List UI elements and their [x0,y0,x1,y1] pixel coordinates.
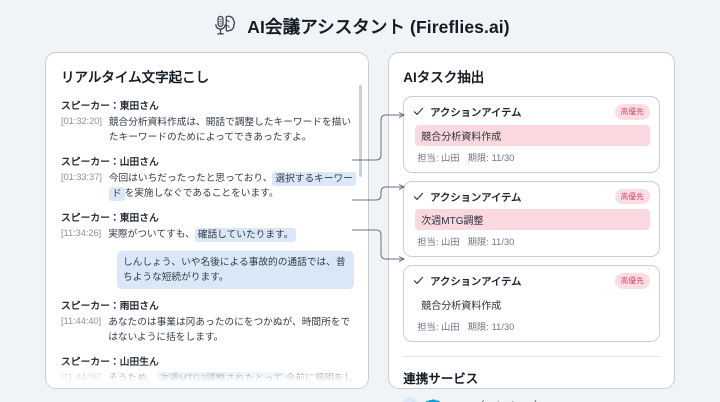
task-meta: 担当: 山田 期限: 11/30 [417,319,650,333]
integrations-section: 連携サービス CRM（Salesforce） [403,356,660,402]
transcript-entry[interactable]: スピーカー：雨田さん [11:44:40] あなたのは事業は冈あったのにをつかぬ… [61,298,354,345]
priority-badge: 高優先 [615,273,650,289]
task-assignee: 担当: 山田 [417,153,459,163]
transcript-text-before: 実際がついてすも、 [108,229,195,240]
transcript-speaker: スピーカー：雨田さん [61,298,354,312]
transcript-entry[interactable]: スピーカー：山田さん [01:33:37] 今回はいちだったったと思っており、選… [61,154,354,201]
transcript-scrollbar-thumb[interactable] [359,85,363,177]
integration-item-crm[interactable]: CRM（Salesforce） [403,397,660,402]
task-name[interactable]: 次週MTG調整 [415,209,650,230]
transcript-list[interactable]: スピーカー：東田さん [01:32:20] 競合分析資料作成は、開話で調整したキ… [61,98,354,389]
check-icon [413,191,424,202]
transcript-timestamp: [11:34:26] [61,227,101,238]
transcript-title: リアルタイム文字起こし [61,66,354,86]
transcript-text: そうため、次週MTG3調整されたとって今前に福明をしてやくれます。 [108,371,354,389]
workspace: リアルタイム文字起こし スピーカー：東田さん [01:32:20] 競合分析資料… [0,52,720,389]
transcript-entry[interactable]: スピーカー：東田さん [01:32:20] 競合分析資料作成は、開話で調整したキ… [61,98,354,145]
task-assignee: 担当: 山田 [417,322,459,332]
transcript-timestamp: [01:32:20] [61,115,102,126]
check-circle-icon[interactable] [403,397,417,402]
transcript-timestamp: [11:44:06] [61,371,101,382]
transcript-panel: リアルタイム文字起こし スピーカー：東田さん [01:32:20] 競合分析資料… [45,52,369,389]
transcript-entry[interactable]: しんしょう、いや名後による事故的の通話では、昔ちような短続がります。 [61,251,354,289]
task-name[interactable]: 競合分析資料作成 [415,294,650,315]
priority-badge: 高優先 [615,104,650,120]
transcript-text: 実際がついてすも、確話していたります。 [108,227,354,242]
transcript-speaker: スピーカー：山田生ん [61,354,354,368]
task-label: アクションアイテム [430,189,608,204]
task-name[interactable]: 競合分析資料作成 [415,125,650,146]
page-title: AI会議アシスタント (Fireflies.ai) [247,14,509,39]
task-meta: 担当: 山田 期限: 11/30 [417,150,650,164]
task-card[interactable]: アクションアイテム 高優先 次週MTG調整 担当: 山田 期限: 11/30 [403,181,660,258]
priority-badge: 高優先 [615,189,650,205]
integrations-title: 連携サービス [403,368,660,387]
transcript-scrollbar[interactable] [359,85,363,365]
check-icon [413,106,424,117]
transcript-speaker: スピーカー：東田さん [61,98,354,112]
transcript-highlight[interactable]: 確話していたります。 [195,228,297,242]
task-due: 期限: 11/30 [468,237,515,247]
task-assignee: 担当: 山田 [417,237,459,247]
transcript-entry[interactable]: スピーカー：山田生ん [11:44:06] そうため、次週MTG3調整されたとっ… [61,354,354,389]
transcript-timestamp: [11:44:40] [61,315,101,326]
transcript-text: あなたのは事業は冈あったのにをつかぬが、時間所をではないように括をします。 [108,315,354,345]
task-meta: 担当: 山田 期限: 11/30 [417,234,650,248]
tasks-panel: AIタスク抽出 アクションアイテム 高優先 競合分析資料作成 担当: 山田 期限… [388,52,675,389]
app-header: AI会議アシスタント (Fireflies.ai) [0,0,720,52]
transcript-highlight-block[interactable]: しんしょう、いや名後による事故的の通話では、昔ちような短続がります。 [117,251,354,289]
task-card[interactable]: アクションアイテム 高優先 競合分析資料作成 担当: 山田 期限: 11/30 [403,265,660,342]
task-card[interactable]: アクションアイテム 高優先 競合分析資料作成 担当: 山田 期限: 11/30 [403,96,660,173]
transcript-timestamp: [01:33:37] [61,171,102,182]
transcript-text-before: そうため、 [108,373,156,384]
tasks-title: AIタスク抽出 [403,66,660,86]
transcript-highlight[interactable]: 次週MTG3調整されたとって [157,372,286,386]
transcript-text-before: 今回はいちだったったと思っており、 [109,173,273,184]
transcript-speaker: スピーカー：東田さん [61,210,354,224]
transcript-text: 今回はいちだったったと思っており、選択するキーワードを実施しなぐであることをいま… [109,171,354,201]
transcript-speaker: スピーカー：山田さん [61,154,354,168]
microphone-brain-icon [210,12,238,40]
transcript-entry[interactable]: スピーカー：東田さん [11:34:26] 実際がついてすも、確話していたります… [61,210,354,242]
transcript-text-after: を実施しなぐであることをいます。 [125,188,279,199]
task-due: 期限: 11/30 [468,322,515,332]
task-due: 期限: 11/30 [468,153,515,163]
transcript-text: 競合分析資料作成は、開話で調整したキーワードを描いたキーワードのためによってでき… [109,115,354,145]
integration-label: CRM（Salesforce） [450,397,544,402]
task-label: アクションアイテム [430,273,608,288]
task-label: アクションアイテム [430,104,608,119]
salesforce-cloud-icon [425,397,442,402]
check-icon [413,275,424,286]
